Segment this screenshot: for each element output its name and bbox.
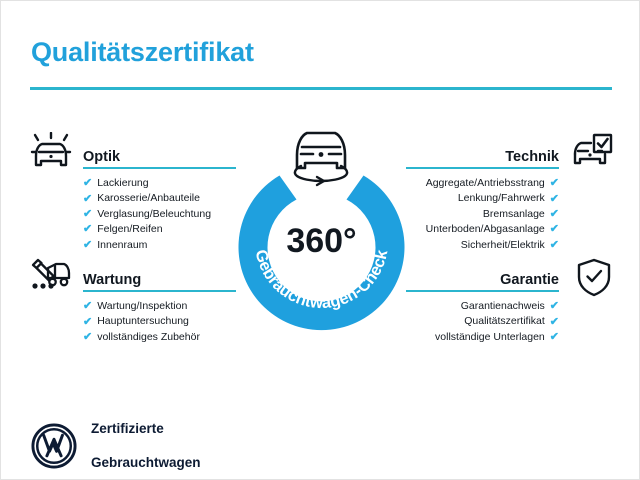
title-divider — [30, 87, 612, 90]
check-icon: ✔ — [550, 332, 559, 343]
list-item: ✔Lackierung — [83, 176, 236, 191]
list-item: vollständige Unterlagen✔ — [406, 330, 559, 345]
list-item: ✔Karosserie/Anbauteile — [83, 191, 236, 206]
list-item: ✔Felgen/Reifen — [83, 222, 236, 237]
list-item-label: vollständige Unterlagen — [435, 330, 545, 345]
list-item-label: Lenkung/Fahrwerk — [458, 191, 545, 206]
check-icon: ✔ — [550, 178, 559, 189]
section-technik-divider — [406, 167, 559, 169]
footer-line-1: Zertifizierte — [91, 420, 201, 437]
list-item: ✔Innenraum — [83, 238, 236, 253]
check-icon: ✔ — [83, 224, 92, 235]
list-item-label: Unterboden/Abgasanlage — [426, 222, 545, 237]
list-item: Qualitätszertifikat✔ — [406, 314, 559, 329]
list-item: ✔Wartung/Inspektion — [83, 299, 236, 314]
vw-footer: Zertifizierte Gebrauchtwagen — [31, 403, 201, 480]
section-wartung: Wartung ✔Wartung/Inspektion ✔Hauptunters… — [83, 266, 236, 345]
list-item-label: Hauptuntersuchung — [97, 314, 189, 329]
list-item-label: Felgen/Reifen — [97, 222, 162, 237]
check-icon: ✔ — [550, 317, 559, 328]
list-item-label: Wartung/Inspektion — [97, 299, 187, 314]
car-rotate-icon — [273, 121, 369, 193]
section-garantie-divider — [406, 290, 559, 292]
check-icon: ✔ — [550, 194, 559, 205]
section-garantie-list: Garantienachweis✔ Qualitätszertifikat✔ v… — [406, 299, 559, 345]
car-checkbox-icon — [569, 132, 615, 177]
section-optik-title: Optik — [83, 149, 120, 165]
footer-line-2: Gebrauchtwagen — [91, 454, 201, 471]
section-garantie: Garantie Garantienachweis✔ Qualitätszert… — [406, 266, 559, 345]
list-item: Bremsanlage✔ — [406, 207, 559, 222]
footer-text: Zertifizierte Gebrauchtwagen — [91, 403, 201, 480]
section-wartung-title: Wartung — [83, 272, 141, 288]
section-technik-header: Technik — [406, 143, 559, 169]
section-technik: Technik Aggregate/Antriebsstrang✔ Lenkun… — [406, 143, 559, 253]
section-technik-title: Technik — [505, 149, 559, 165]
car-service-tool-icon — [28, 255, 74, 300]
vw-logo-icon — [31, 423, 77, 469]
list-item: Garantienachweis✔ — [406, 299, 559, 314]
check-icon: ✔ — [550, 301, 559, 312]
list-item-label: vollständiges Zubehör — [97, 330, 200, 345]
section-optik-divider — [83, 167, 236, 169]
section-wartung-divider — [83, 290, 236, 292]
section-optik: Optik ✔Lackierung ✔Karosserie/Anbauteile… — [83, 143, 236, 253]
list-item-label: Karosserie/Anbauteile — [97, 191, 200, 206]
list-item-label: Bremsanlage — [483, 207, 545, 222]
section-wartung-list: ✔Wartung/Inspektion ✔Hauptuntersuchung ✔… — [83, 299, 236, 345]
certificate-page: Qualitätszertifikat Optik ✔Lackierung ✔K… — [0, 0, 640, 480]
list-item-label: Garantienachweis — [461, 299, 545, 314]
section-optik-list: ✔Lackierung ✔Karosserie/Anbauteile ✔Verg… — [83, 176, 236, 253]
list-item: ✔Verglasung/Beleuchtung — [83, 207, 236, 222]
check-icon: ✔ — [550, 209, 559, 220]
check-icon: ✔ — [550, 224, 559, 235]
check-icon: ✔ — [83, 332, 92, 343]
check-icon: ✔ — [83, 209, 92, 220]
list-item-label: Aggregate/Antriebsstrang — [426, 176, 545, 191]
list-item: Lenkung/Fahrwerk✔ — [406, 191, 559, 206]
list-item-label: Qualitätszertifikat — [464, 314, 545, 329]
section-technik-list: Aggregate/Antriebsstrang✔ Lenkung/Fahrwe… — [406, 176, 559, 253]
car-shine-icon — [28, 132, 74, 177]
list-item-label: Sicherheit/Elektrik — [461, 238, 545, 253]
section-optik-header: Optik — [83, 143, 236, 169]
check-icon: ✔ — [83, 178, 92, 189]
check-icon: ✔ — [83, 194, 92, 205]
list-item: Sicherheit/Elektrik✔ — [406, 238, 559, 253]
section-wartung-header: Wartung — [83, 266, 236, 292]
list-item-label: Verglasung/Beleuchtung — [97, 207, 211, 222]
list-item: Aggregate/Antriebsstrang✔ — [406, 176, 559, 191]
list-item: ✔Hauptuntersuchung — [83, 314, 236, 329]
check-icon: ✔ — [83, 317, 92, 328]
list-item: ✔vollständiges Zubehör — [83, 330, 236, 345]
section-garantie-header: Garantie — [406, 266, 559, 292]
section-garantie-title: Garantie — [500, 272, 559, 288]
check-icon: ✔ — [83, 240, 92, 251]
check-icon: ✔ — [83, 301, 92, 312]
list-item-label: Lackierung — [97, 176, 148, 191]
shield-check-icon — [574, 257, 614, 304]
list-item-label: Innenraum — [97, 238, 147, 253]
list-item: Unterboden/Abgasanlage✔ — [406, 222, 559, 237]
page-title: Qualitätszertifikat — [31, 37, 254, 68]
check-icon: ✔ — [550, 240, 559, 251]
